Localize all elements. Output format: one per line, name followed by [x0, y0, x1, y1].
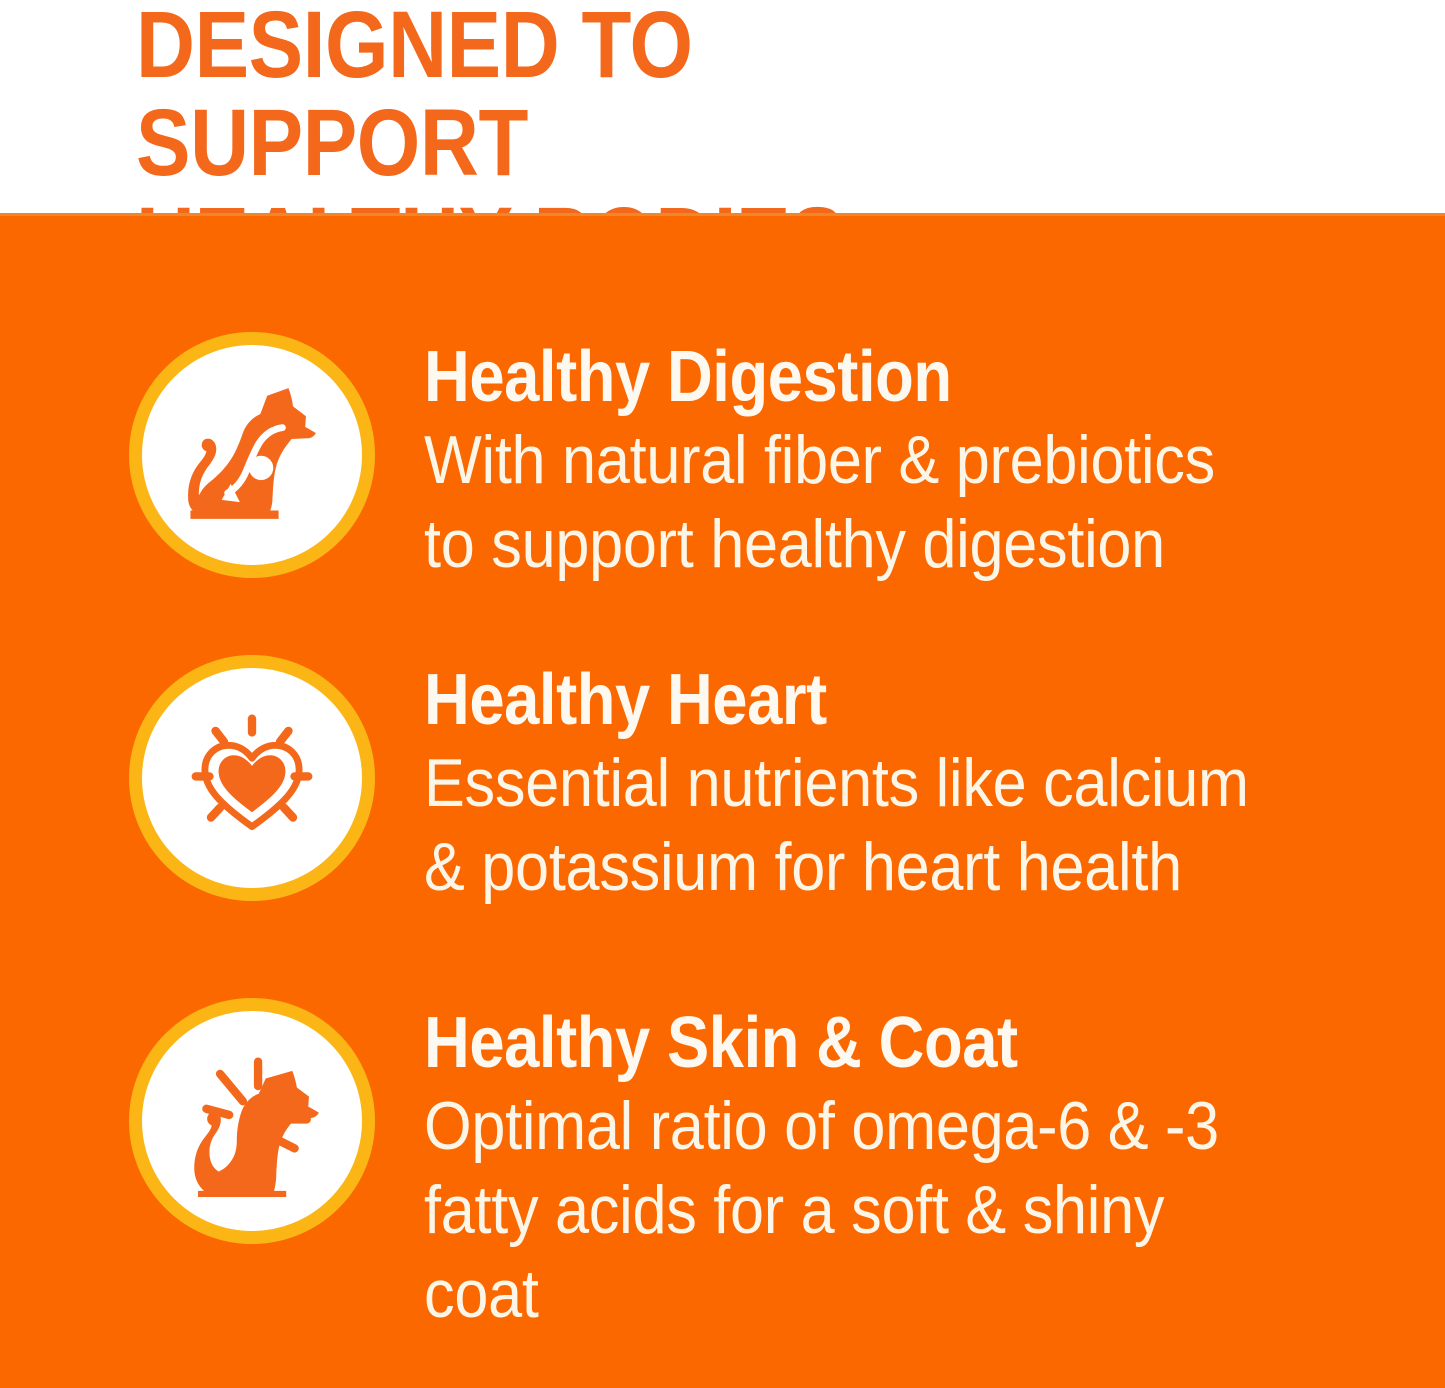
feature-text-digestion: Healthy Digestion With natural fiber & p… — [424, 340, 1384, 586]
feature-body: Essential nutrients like calcium & potas… — [424, 741, 1288, 909]
feature-badge-skin-coat — [129, 998, 375, 1244]
feature-text-heart: Healthy Heart Essential nutrients like c… — [424, 663, 1384, 909]
feature-text-skin-coat: Healthy Skin & Coat Optimal ratio of ome… — [424, 1006, 1384, 1336]
panel-top-divider — [0, 213, 1445, 216]
feature-row: Healthy Skin & Coat Optimal ratio of ome… — [0, 978, 1445, 1278]
feature-row: Healthy Heart Essential nutrients like c… — [0, 635, 1445, 935]
cat-shine-icon — [176, 1045, 328, 1197]
feature-badge-heart — [129, 655, 375, 901]
feature-row: Healthy Digestion With natural fiber & p… — [0, 312, 1445, 612]
header-band: DESIGNED TO SUPPORT HEALTHY BODIES — [0, 0, 1445, 213]
feature-heading: Healthy Skin & Coat — [424, 1006, 1269, 1080]
feature-body: Optimal ratio of omega-6 & -3 fatty acid… — [424, 1084, 1288, 1336]
feature-heading: Healthy Digestion — [424, 340, 1269, 414]
feature-body: With natural fiber & prebiotics to suppo… — [424, 418, 1288, 586]
radiant-heart-icon — [176, 702, 328, 854]
cat-digestion-icon — [176, 379, 328, 531]
infographic-page: DESIGNED TO SUPPORT HEALTHY BODIES Healt… — [0, 0, 1445, 1388]
feature-heading: Healthy Heart — [424, 663, 1269, 737]
feature-badge-digestion — [129, 332, 375, 578]
